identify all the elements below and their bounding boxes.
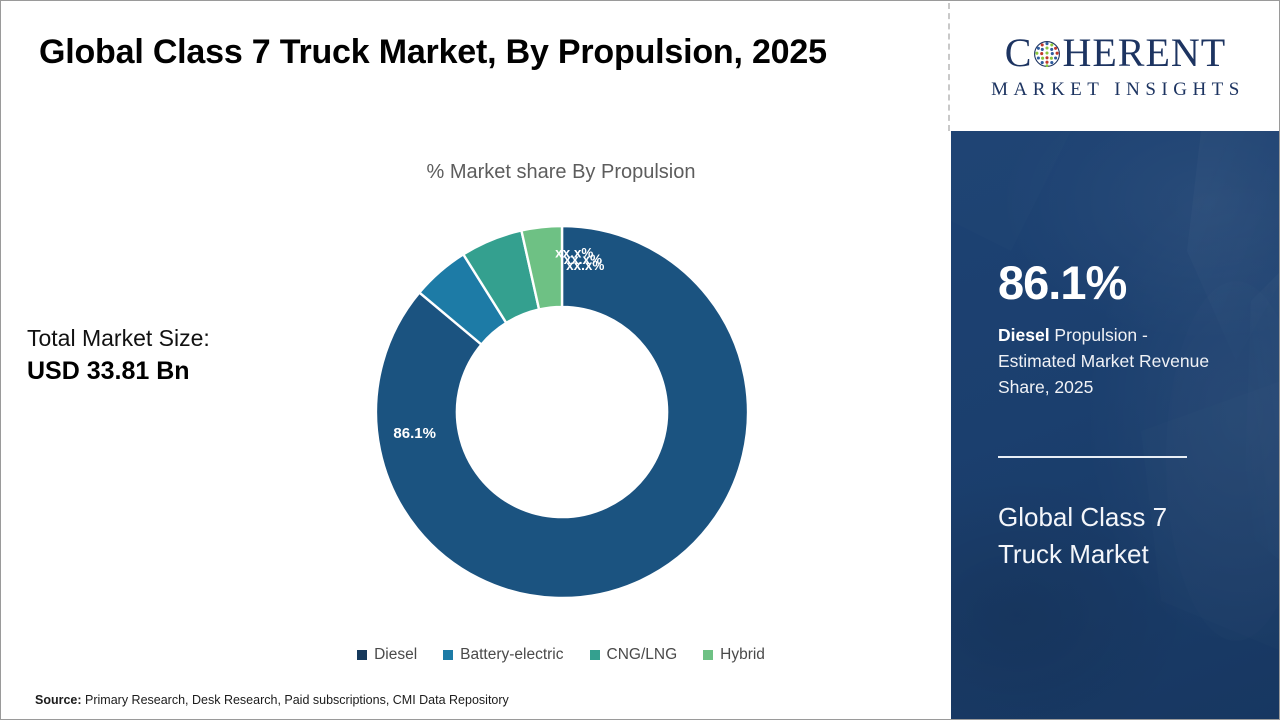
total-market-size: Total Market Size: USD 33.81 Bn — [27, 323, 327, 389]
legend-swatch-icon — [443, 650, 453, 660]
donut-chart: 86.1%xx.x%xx.x%xx.x% — [376, 226, 748, 598]
source-note: Source: Primary Research, Desk Research,… — [35, 693, 509, 707]
logo-wordmark: C — [1005, 33, 1226, 73]
legend-label: Battery-electric — [460, 646, 563, 664]
logo-subtitle: MARKET INSIGHTS — [986, 79, 1245, 101]
donut-chart-svg: 86.1%xx.x%xx.x%xx.x% — [376, 226, 748, 598]
donut-label-diesel: 86.1% — [393, 425, 436, 442]
logo-word-herent: HERENT — [1062, 33, 1226, 73]
chart-legend: DieselBattery-electricCNG/LNGHybrid — [301, 646, 821, 664]
page-title: Global Class 7 Truck Market, By Propulsi… — [39, 33, 919, 72]
stat-description-strong: Diesel — [998, 325, 1050, 345]
stat-description: Diesel Propulsion - Estimated Market Rev… — [998, 323, 1213, 401]
market-size-value: USD 33.81 Bn — [27, 354, 327, 389]
source-text: Primary Research, Desk Research, Paid su… — [82, 693, 509, 707]
legend-item-hybrid[interactable]: Hybrid — [703, 646, 765, 664]
legend-swatch-icon — [703, 650, 713, 660]
source-label: Source: — [35, 693, 82, 707]
legend-label: CNG/LNG — [607, 646, 678, 664]
panel-market-name: Global Class 7 Truck Market — [998, 499, 1223, 573]
stat-number: 86.1% — [998, 259, 1126, 306]
legend-swatch-icon — [357, 650, 367, 660]
vertical-dashed-divider — [948, 3, 950, 131]
brand-logo: C — [951, 2, 1280, 131]
legend-swatch-icon — [590, 650, 600, 660]
globe-icon — [1033, 40, 1061, 68]
logo-letter-c: C — [1005, 33, 1033, 73]
stat-panel: 86.1% Diesel Propulsion - Estimated Mark… — [951, 131, 1280, 720]
legend-item-battery-electric[interactable]: Battery-electric — [443, 646, 563, 664]
chart-subtitle: % Market share By Propulsion — [301, 161, 821, 184]
market-size-label: Total Market Size: — [27, 323, 327, 354]
panel-divider-rule — [998, 456, 1187, 458]
legend-item-diesel[interactable]: Diesel — [357, 646, 417, 664]
stat-panel-content: 86.1% Diesel Propulsion - Estimated Mark… — [998, 131, 1248, 720]
legend-label: Hybrid — [720, 646, 765, 664]
infographic-root: Global Class 7 Truck Market, By Propulsi… — [0, 0, 1280, 720]
legend-item-cng-lng[interactable]: CNG/LNG — [590, 646, 678, 664]
legend-label: Diesel — [374, 646, 417, 664]
donut-label-hybrid: xx.x% — [555, 246, 593, 261]
